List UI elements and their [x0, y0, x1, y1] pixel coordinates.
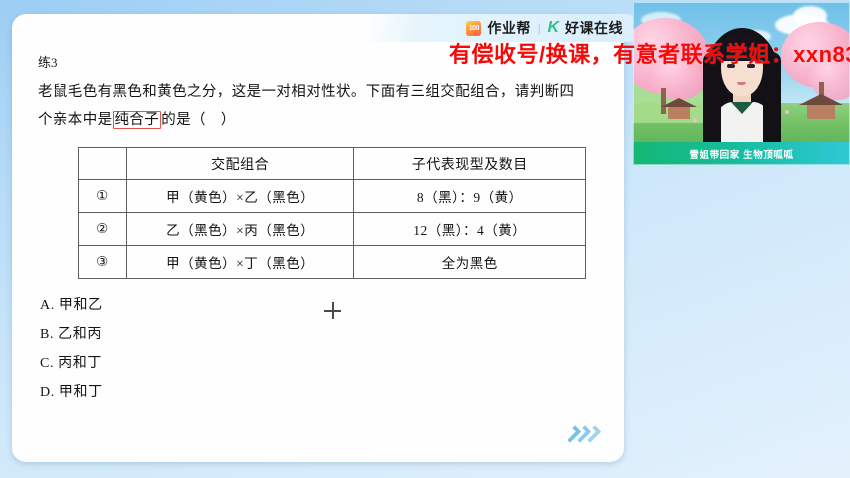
brand-sub-name: 好课在线 — [565, 18, 623, 38]
row-offspring: 12（黑）：4（黄） — [354, 213, 586, 246]
k-logo-icon: K — [547, 19, 559, 37]
table-header-blank — [79, 148, 127, 180]
pavilion-building-icon — [661, 98, 697, 120]
answer-options: A. 甲和乙 B. 乙和丙 C. 丙和丁 D. 甲和丁 — [40, 291, 103, 407]
slide-card: 100 作业帮 | K 好课在线 练3 老鼠毛色有黑色和黄色之分，这是一对相对性… — [12, 14, 624, 462]
table-body: ① 甲（黄色）×乙（黑色） 8（黑）：9（黄） ② 乙（黑色）×丙（黑色） 12… — [79, 180, 586, 279]
table-header-offspring: 子代表现型及数目 — [354, 148, 586, 180]
app-root: 100 作业帮 | K 好课在线 练3 老鼠毛色有黑色和黄色之分，这是一对相对性… — [0, 0, 850, 478]
cross-combination-table: 交配组合 子代表现型及数目 ① 甲（黄色）×乙（黑色） 8（黑）：9（黄） ② … — [78, 147, 586, 279]
row-number: ① — [79, 180, 127, 213]
next-slide-button[interactable] — [550, 414, 614, 454]
crosshair-cursor-icon — [324, 302, 341, 319]
row-number: ② — [79, 213, 127, 246]
row-cross: 甲（黄色）×乙（黑色） — [126, 180, 354, 213]
promo-banner-text: 有偿收号/换课，有意者联系学姐：xxn8383 — [449, 37, 850, 69]
option-c[interactable]: C. 丙和丁 — [40, 349, 103, 378]
row-cross: 甲（黄色）×丁（黑色） — [126, 246, 354, 279]
row-cross: 乙（黑色）×丙（黑色） — [126, 213, 354, 246]
pavilion-roof-shape — [799, 94, 843, 105]
table-head: 交配组合 子代表现型及数目 — [79, 148, 586, 180]
question-label: 练3 — [38, 52, 58, 71]
brand-separator: | — [538, 20, 541, 36]
video-caption-bar: 雪姐带回家 生物顶呱呱 — [633, 142, 850, 165]
teacher-video-panel[interactable]: 雪姐带回家 生物顶呱呱 — [633, 2, 850, 165]
question-highlight-term: 纯合子 — [113, 111, 162, 129]
video-caption-text: 雪姐带回家 生物顶呱呱 — [689, 147, 793, 161]
option-b[interactable]: B. 乙和丙 — [40, 320, 103, 349]
zuoyebang-logo-icon: 100 — [466, 21, 481, 36]
table-row: ③ 甲（黄色）×丁（黑色） 全为黑色 — [79, 246, 586, 279]
row-number: ③ — [79, 246, 127, 279]
question-text-part2: 的是（ ） — [161, 112, 236, 128]
pavilion-building-icon — [799, 94, 843, 120]
table-row: ① 甲（黄色）×乙（黑色） 8（黑）：9（黄） — [79, 180, 586, 213]
option-a[interactable]: A. 甲和乙 — [40, 291, 103, 320]
table-header-row: 交配组合 子代表现型及数目 — [79, 148, 586, 180]
brand-name: 作业帮 — [487, 18, 531, 38]
pavilion-body-shape — [668, 107, 690, 119]
question-text: 老鼠毛色有黑色和黄色之分，这是一对相对性状。下面有三组交配组合，请判断四个亲本中… — [38, 78, 583, 134]
table-row: ② 乙（黑色）×丙（黑色） 12（黑）：4（黄） — [79, 213, 586, 246]
pavilion-body-shape — [807, 105, 835, 119]
table-header-cross: 交配组合 — [126, 148, 354, 180]
option-d[interactable]: D. 甲和丁 — [40, 378, 103, 407]
row-offspring: 8（黑）：9（黄） — [354, 180, 586, 213]
pavilion-roof-shape — [661, 98, 697, 107]
row-offspring: 全为黑色 — [354, 246, 586, 279]
